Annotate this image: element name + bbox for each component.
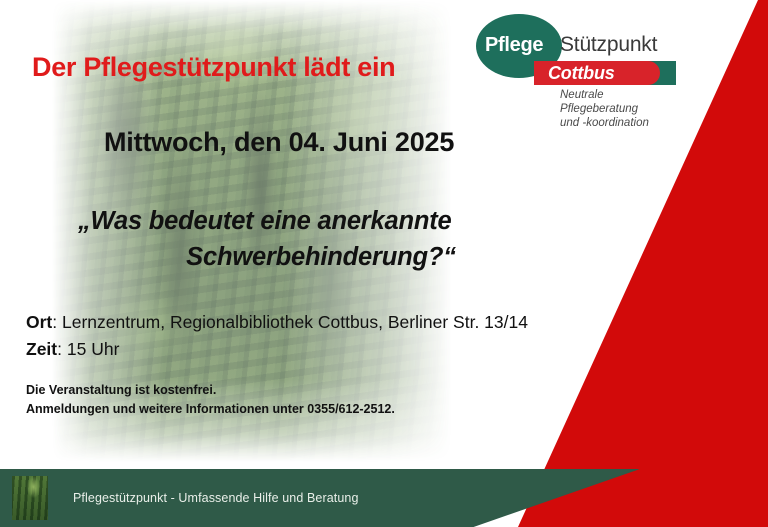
invitation-headline: Der Pflegestützpunkt lädt ein xyxy=(32,52,395,83)
event-date: Mittwoch, den 04. Juni 2025 xyxy=(104,127,454,158)
logo-word-cottbus: Cottbus xyxy=(548,63,615,84)
footer-thumbnail-image xyxy=(12,476,48,520)
presentation-slide: Pflege Stützpunkt Cottbus Neutrale Pfleg… xyxy=(0,0,768,527)
event-notes: Die Veranstaltung ist kostenfrei. Anmeld… xyxy=(26,381,395,419)
footer-slogan: Pflegestützpunkt - Umfassende Hilfe und … xyxy=(73,491,359,505)
pflegestuetzpunkt-logo: Pflege Stützpunkt Cottbus Neutrale Pfleg… xyxy=(476,6,676,112)
event-place-label: Ort xyxy=(26,312,52,332)
event-time-label: Zeit xyxy=(26,339,57,359)
logo-word-stuetzpunkt: Stützpunkt xyxy=(560,33,657,57)
event-topic-title: „Was bedeutet eine anerkannte Schwerbehi… xyxy=(78,203,598,275)
event-place-separator: : xyxy=(52,312,57,332)
event-topic-line-1: „Was bedeutet eine anerkannte xyxy=(78,203,598,239)
event-topic-line-2: Schwerbehinderung?“ xyxy=(78,239,598,275)
event-place-value: Lernzentrum, Regionalbibliothek Cottbus,… xyxy=(62,312,528,332)
event-time-value: 15 Uhr xyxy=(67,339,120,359)
logo-word-pflege: Pflege xyxy=(485,34,543,57)
logo-tagline: Neutrale Pflegeberatung und -koordinatio… xyxy=(560,88,676,130)
event-place-row: Ort: Lernzentrum, Regionalbibliothek Cot… xyxy=(26,309,528,336)
event-time-row: Zeit: 15 Uhr xyxy=(26,336,528,363)
event-details: Ort: Lernzentrum, Regionalbibliothek Cot… xyxy=(26,309,528,363)
event-time-separator: : xyxy=(57,339,62,359)
